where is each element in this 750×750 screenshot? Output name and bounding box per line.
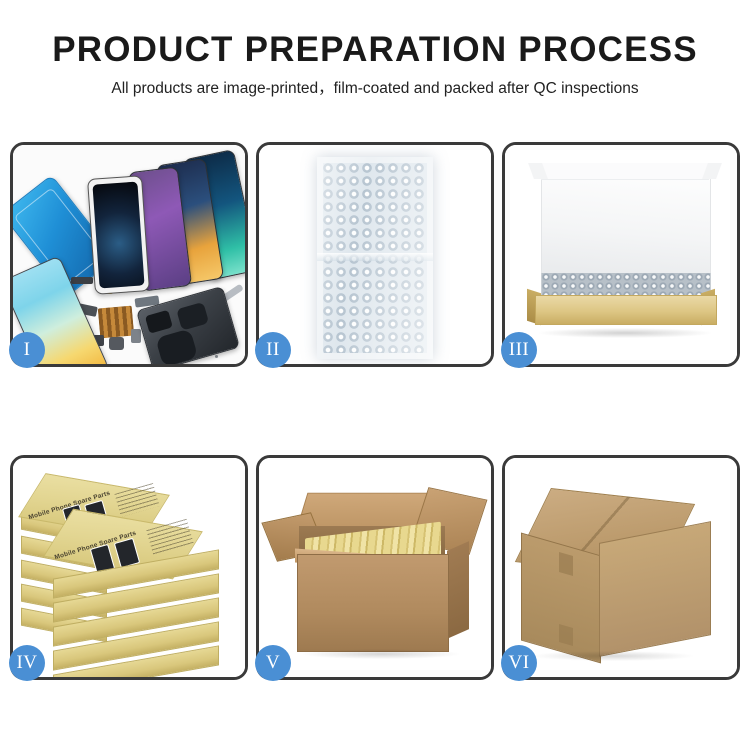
- page-subtitle: All products are image-printed，film-coat…: [0, 79, 750, 99]
- carton-right-side: [447, 541, 469, 639]
- step-3-image: [505, 145, 737, 364]
- step-6-image: [505, 458, 737, 677]
- step-badge-1: I: [9, 332, 45, 368]
- small-part-4: [131, 329, 141, 343]
- bubble-wrap-highlight: [317, 157, 433, 359]
- sealed-carton-shadow: [533, 651, 693, 661]
- step-4-image: Mobile Phone Spare Parts Mobile Phone Sp…: [13, 458, 245, 677]
- open-carton-scene: [259, 458, 491, 677]
- process-step-panel-3[interactable]: III: [502, 142, 740, 367]
- inner-box-shadow: [539, 328, 711, 338]
- process-step-panel-1[interactable]: I: [10, 142, 248, 367]
- step-2-image: [259, 145, 491, 364]
- step-badge-6: VI: [501, 645, 537, 681]
- process-step-panel-4[interactable]: Mobile Phone Spare Parts Mobile Phone Sp…: [10, 455, 248, 680]
- inner-box-bubble-contents: [541, 273, 711, 295]
- sealed-carton-scene: [505, 458, 737, 677]
- earpiece-speaker-part: [71, 277, 93, 284]
- inner-box-scene: [505, 145, 737, 364]
- step-1-image: [13, 145, 245, 364]
- page-title: PRODUCT PREPARATION PROCESS: [0, 30, 750, 70]
- step-badge-2: II: [255, 332, 291, 368]
- stacked-boxes-scene: Mobile Phone Spare Parts Mobile Phone Sp…: [13, 458, 245, 677]
- process-steps-grid: I II III: [10, 142, 740, 680]
- bubble-wrap-scene: [259, 145, 491, 364]
- sealed-carton-tape-upper: [559, 552, 573, 576]
- step-badge-4: IV: [9, 645, 45, 681]
- process-step-panel-5[interactable]: V: [256, 455, 494, 680]
- inner-box-lid-tab: [541, 163, 709, 180]
- step-badge-5: V: [255, 645, 291, 681]
- circuit-board-part: [98, 306, 134, 339]
- step-5-image: [259, 458, 491, 677]
- small-part-3: [109, 337, 124, 350]
- page-header: PRODUCT PREPARATION PROCESS All products…: [0, 0, 750, 99]
- inner-box-lid: [541, 163, 711, 277]
- phone-screen-black: [87, 175, 150, 295]
- inner-box-front-panel: [535, 295, 717, 325]
- carton-front-face: [297, 554, 449, 652]
- process-step-panel-2[interactable]: II: [256, 142, 494, 367]
- process-step-panel-6[interactable]: VI: [502, 455, 740, 680]
- open-carton-shadow: [303, 649, 459, 659]
- sealed-carton-right-face: [599, 521, 711, 657]
- sealed-carton-tape-lower: [559, 624, 573, 646]
- phones-and-parts-scene: [13, 145, 245, 364]
- step-badge-3: III: [501, 332, 537, 368]
